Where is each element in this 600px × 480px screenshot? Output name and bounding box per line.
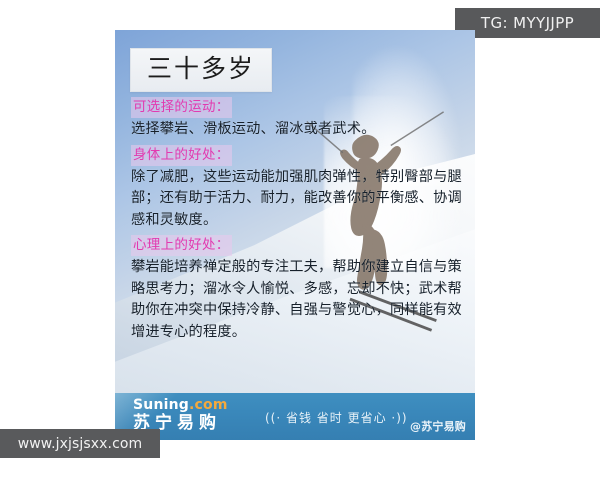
section-heading: 可选择的运动： xyxy=(131,97,232,118)
tg-tag: TG: MYYJJPP xyxy=(455,8,600,38)
footer-handle: @苏宁易购 xyxy=(410,418,466,434)
url-watermark: www.jxjsjsxx.com xyxy=(0,429,160,458)
tg-tag-label: TG: MYYJJPP xyxy=(481,14,574,32)
page-title: 三十多岁 xyxy=(147,54,255,84)
suning-logo: Suning.com 苏宁易购 xyxy=(133,398,228,432)
section-psychological-benefits: 心理上的好处： 攀岩能培养禅定般的专注工夫，帮助你建立自信与策略思考力；溜冰令人… xyxy=(131,234,469,343)
section-body: 攀岩能培养禅定般的专注工夫，帮助你建立自信与策略思考力；溜冰令人愉悦、多感，忘却… xyxy=(131,257,469,343)
poster-content: 可选择的运动： 选择攀岩、滑板运动、溜冰或者武术。 身体上的好处： 除了减肥，这… xyxy=(131,96,469,346)
poster-footer-bar: Suning.com 苏宁易购 ((· 省钱 省时 更省心 ·)) @苏宁易购 xyxy=(115,393,475,440)
footer-slogan: ((· 省钱 省时 更省心 ·)) xyxy=(265,409,408,426)
section-heading: 心理上的好处： xyxy=(131,235,232,256)
poster-title-box: 三十多岁 xyxy=(130,48,272,92)
section-physical-benefits: 身体上的好处： 除了减肥，这些运动能加强肌肉弹性，特别臀部与腿部；还有助于活力、… xyxy=(131,144,469,232)
suning-logo-com: .com xyxy=(189,397,228,413)
suning-logo-en-text: Suning xyxy=(133,397,189,413)
section-sports: 可选择的运动： 选择攀岩、滑板运动、溜冰或者武术。 xyxy=(131,96,469,141)
section-heading: 身体上的好处： xyxy=(131,145,232,166)
section-body: 选择攀岩、滑板运动、溜冰或者武术。 xyxy=(131,119,469,141)
url-watermark-label: www.jxjsjsxx.com xyxy=(18,436,143,452)
section-body: 除了减肥，这些运动能加强肌肉弹性，特别臀部与腿部；还有助于活力、耐力，能改善你的… xyxy=(131,167,469,232)
poster: 三十多岁 可选择的运动： 选择攀岩、滑板运动、溜冰或者武术。 身体上的好处： 除… xyxy=(115,30,475,440)
suning-logo-en: Suning.com xyxy=(133,398,228,412)
